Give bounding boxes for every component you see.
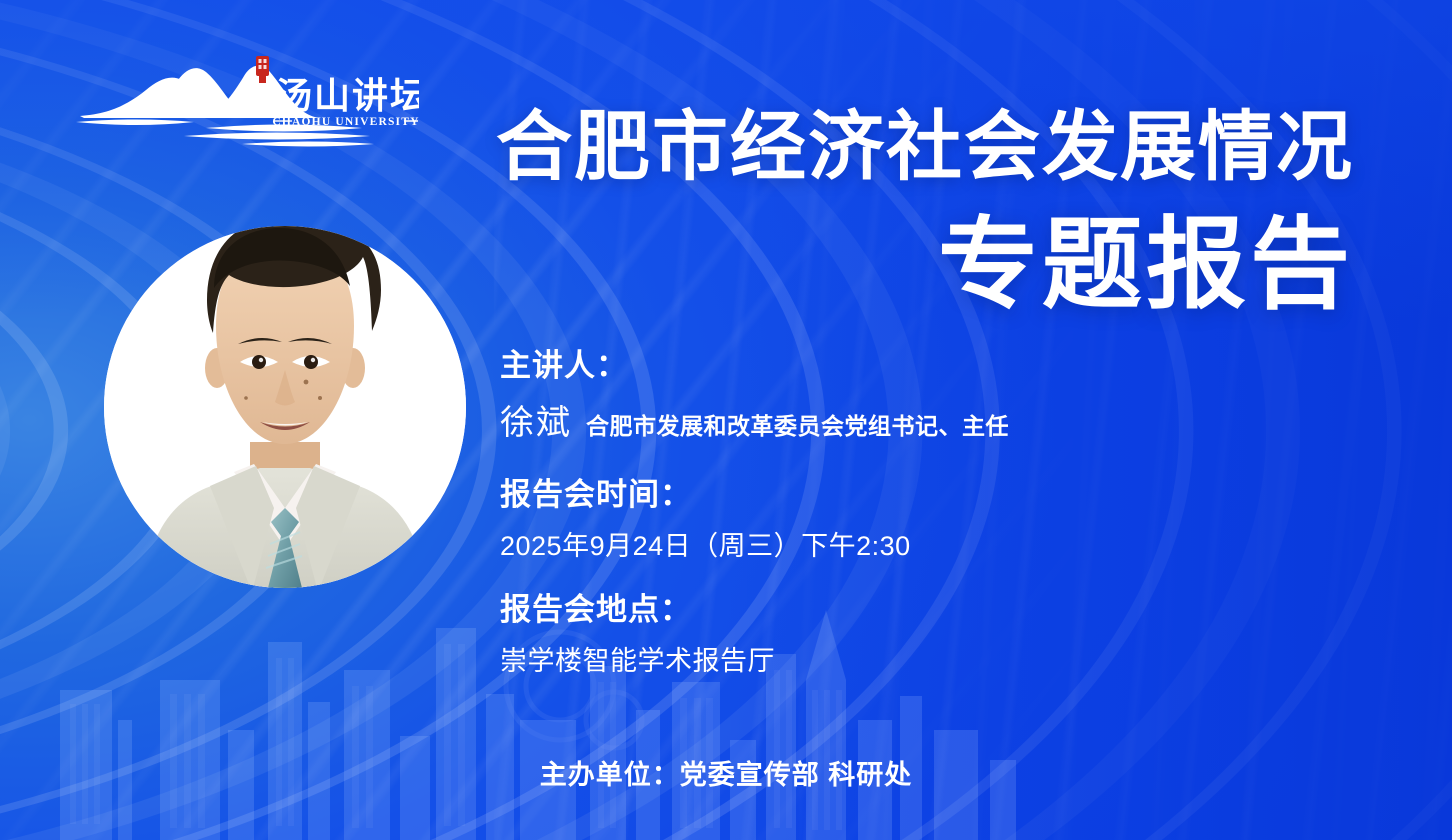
portrait-illustration <box>104 192 466 592</box>
speaker-label: 主讲人： <box>500 345 1220 387</box>
event-details: 主讲人： 徐斌 合肥市发展和改革委员会党组书记、主任 报告会时间： 2025年9… <box>500 345 1220 678</box>
title-line-2: 专题报告 <box>354 210 1354 320</box>
poster-title: 合肥市经济社会发展情况 专题报告 <box>354 108 1354 320</box>
time-label: 报告会时间： <box>500 474 1220 516</box>
speaker-position: 合肥市发展和改革委员会党组书记、主任 <box>586 407 1009 441</box>
event-poster: 汤山讲坛 CHAOHU UNIVERSITY 汤山讲坛 CHAOHU UNIVE… <box>0 0 1452 840</box>
speaker-portrait <box>104 226 466 588</box>
speaker-row: 徐斌 合肥市发展和改革委员会党组书记、主任 <box>500 395 1220 444</box>
time-value: 2025年9月24日（周三）下午2:30 <box>500 524 1220 563</box>
place-value: 崇学楼智能学术报告厅 <box>500 639 1220 678</box>
speaker-name: 徐斌 <box>500 395 572 444</box>
title-line-1: 合肥市经济社会发展情况 <box>354 108 1354 188</box>
place-label: 报告会地点： <box>500 589 1220 631</box>
organizer-line: 主办单位：党委宣传部 科研处 <box>0 753 1452 792</box>
